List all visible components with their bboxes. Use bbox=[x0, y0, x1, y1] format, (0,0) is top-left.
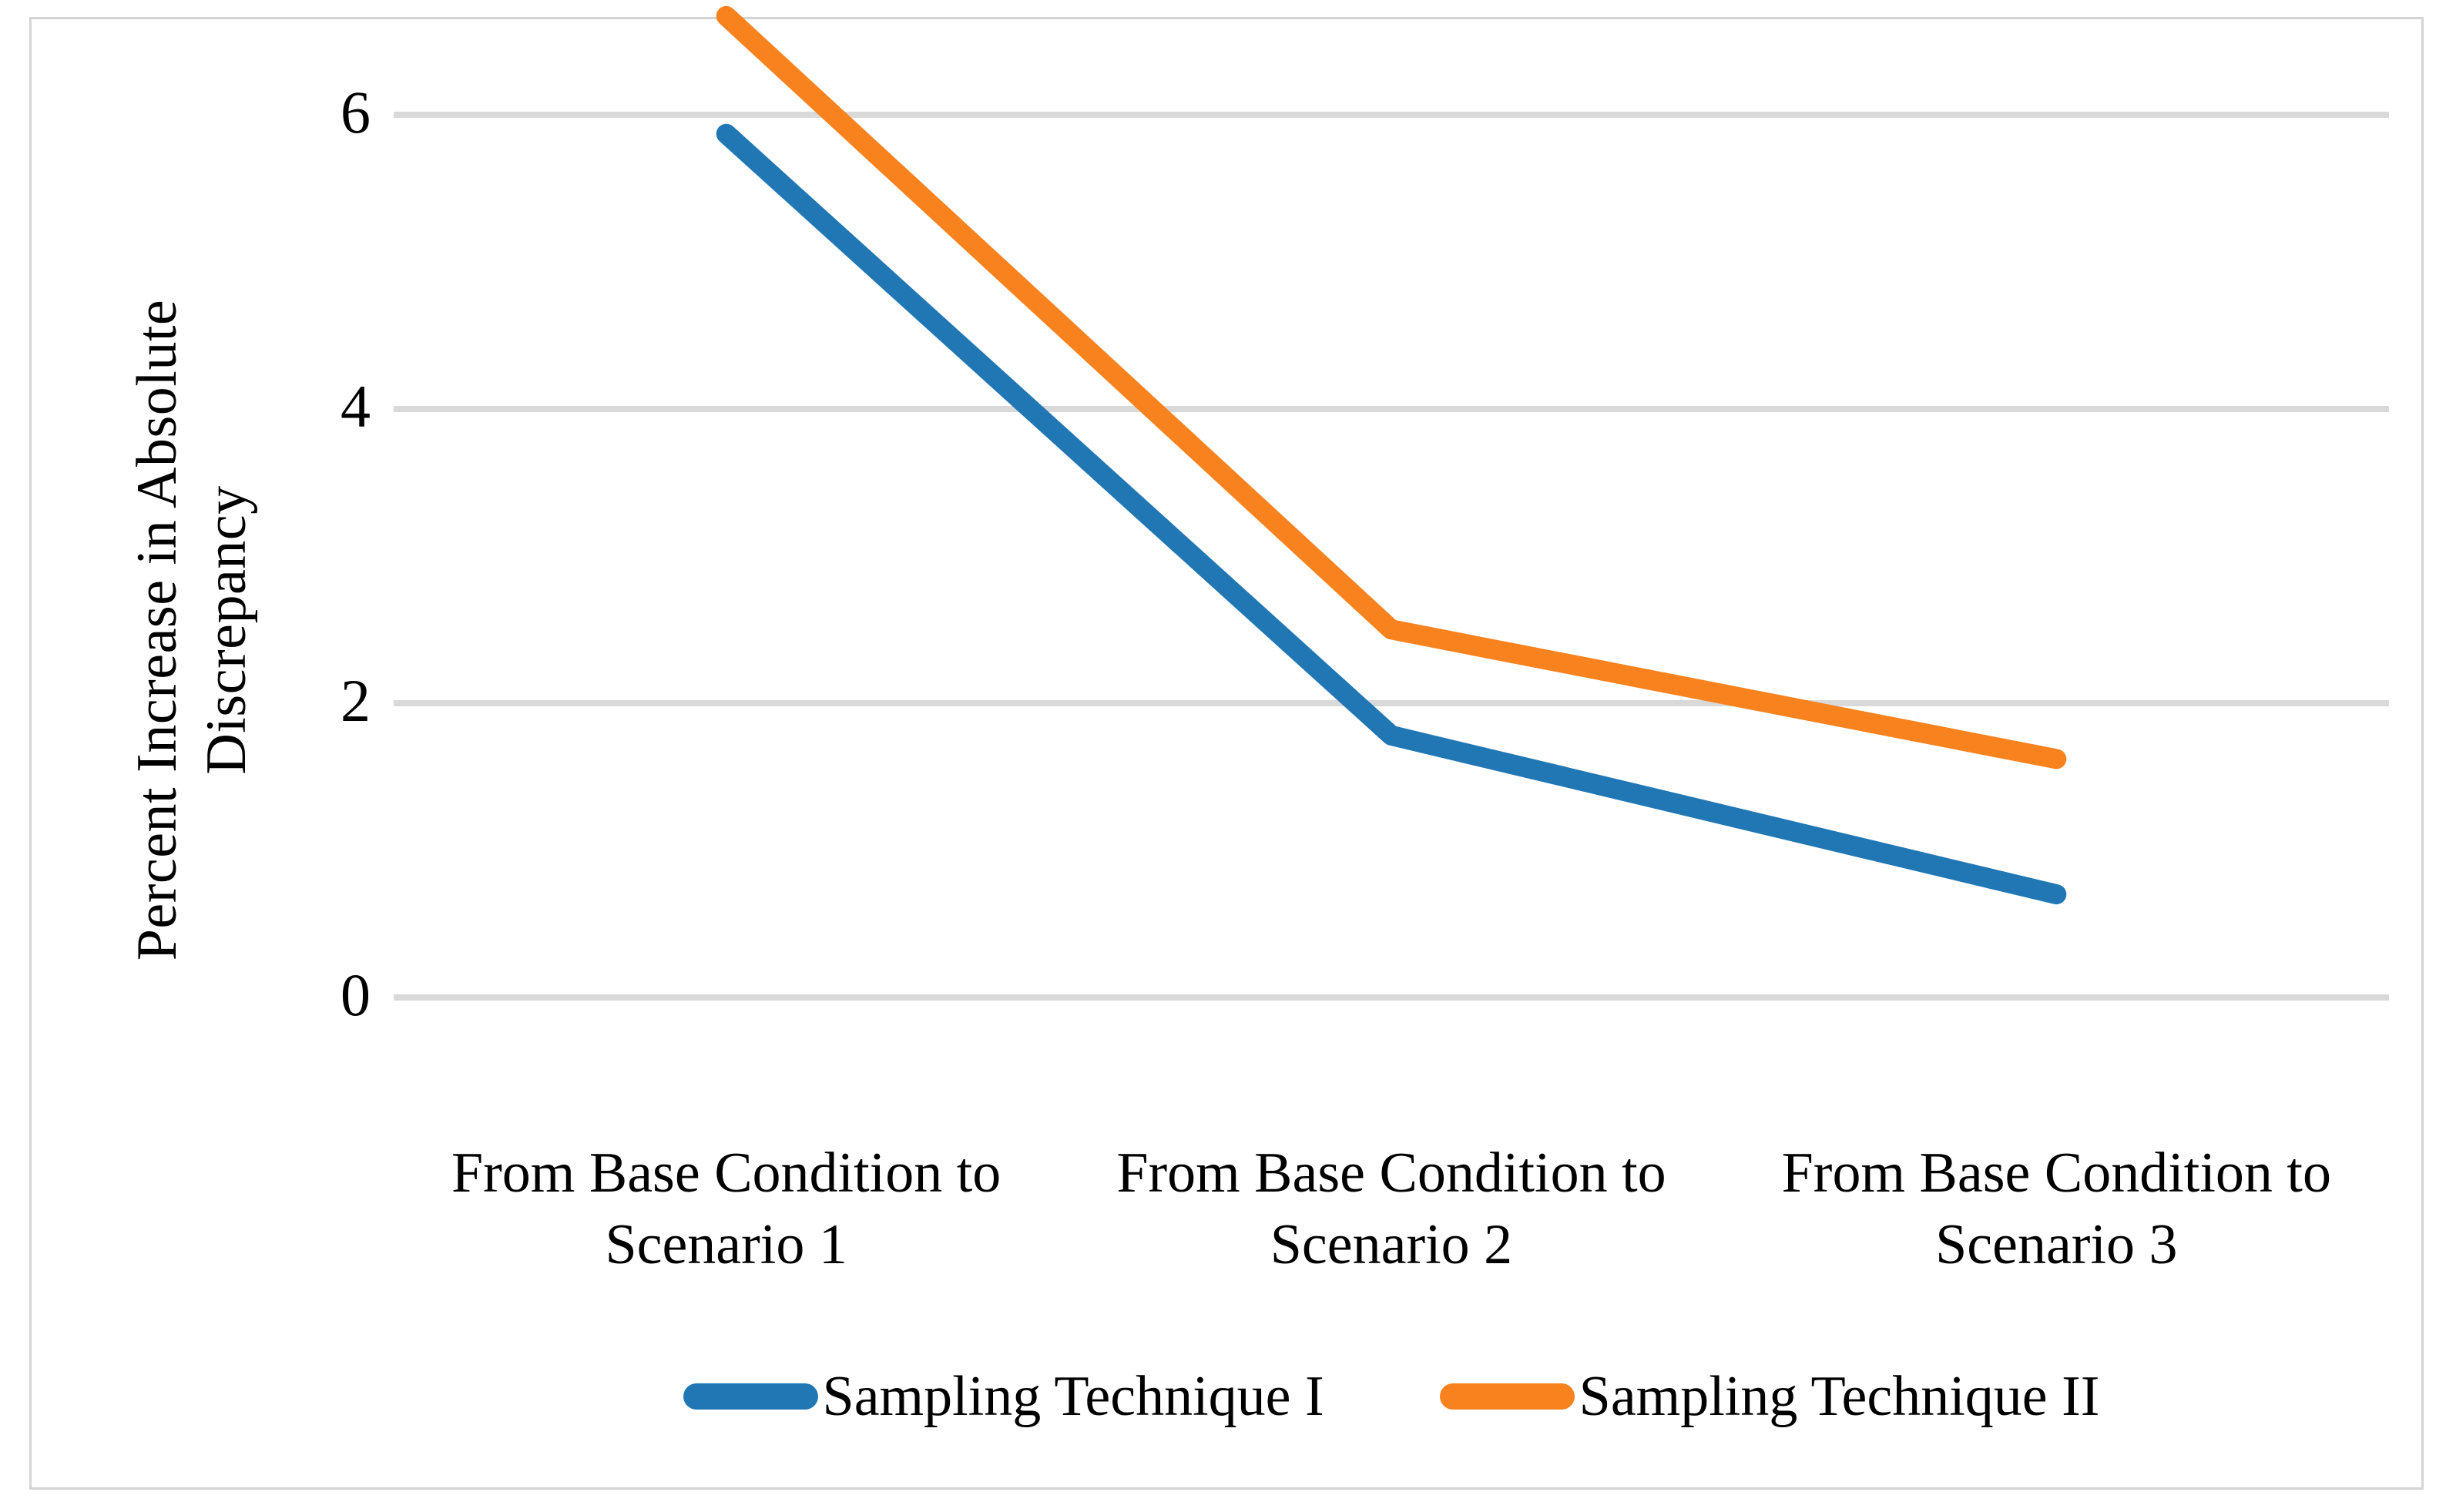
x-tick-label-scenario-3-line-2: Scenario 3 bbox=[1724, 1209, 2389, 1281]
legend-swatch-icon-sampling-technique-ii bbox=[1440, 1383, 1575, 1410]
x-tick-label-scenario-1-line-1: From Base Condition to bbox=[394, 1138, 1059, 1209]
plot-area bbox=[394, 112, 2389, 1121]
x-tick-label-scenario-1: From Base Condition to Scenario 1 bbox=[394, 1138, 1059, 1299]
series-line-sampling-technique-i bbox=[726, 134, 2057, 894]
chart-legend: Sampling Technique I Sampling Technique … bbox=[394, 1343, 2389, 1450]
y-tick-label-4: 4 bbox=[240, 377, 371, 437]
x-tick-label-scenario-3: From Base Condition to Scenario 3 bbox=[1724, 1138, 2389, 1299]
x-tick-label-scenario-2-line-2: Scenario 2 bbox=[1059, 1209, 1723, 1281]
legend-item-sampling-technique-ii: Sampling Technique II bbox=[1440, 1368, 2100, 1425]
legend-label-sampling-technique-ii: Sampling Technique II bbox=[1579, 1368, 2100, 1425]
y-tick-label-0: 0 bbox=[240, 965, 371, 1025]
x-tick-label-scenario-2: From Base Condition to Scenario 2 bbox=[1059, 1138, 1723, 1299]
series-line-sampling-technique-ii bbox=[726, 16, 2057, 759]
y-tick-label-2: 2 bbox=[240, 671, 371, 731]
legend-swatch-icon-sampling-technique-i bbox=[683, 1383, 818, 1410]
x-axis-tick-labels: From Base Condition to Scenario 1 From B… bbox=[394, 1138, 2389, 1299]
series-svg bbox=[394, 112, 2389, 1121]
figure-frame: Percent Increase in Absolute Discrepancy… bbox=[29, 17, 2424, 1490]
y-axis-title-line-1: Percent Increase in Absolute bbox=[122, 300, 192, 961]
y-axis-tick-labels: 6 4 2 0 bbox=[240, 112, 371, 1121]
x-tick-label-scenario-3-line-1: From Base Condition to bbox=[1724, 1138, 2389, 1209]
y-tick-label-6: 6 bbox=[240, 82, 371, 142]
legend-item-sampling-technique-i: Sampling Technique I bbox=[683, 1368, 1324, 1425]
x-tick-label-scenario-1-line-2: Scenario 1 bbox=[394, 1209, 1059, 1281]
x-tick-label-scenario-2-line-1: From Base Condition to bbox=[1059, 1138, 1723, 1209]
legend-label-sampling-technique-i: Sampling Technique I bbox=[823, 1368, 1324, 1425]
